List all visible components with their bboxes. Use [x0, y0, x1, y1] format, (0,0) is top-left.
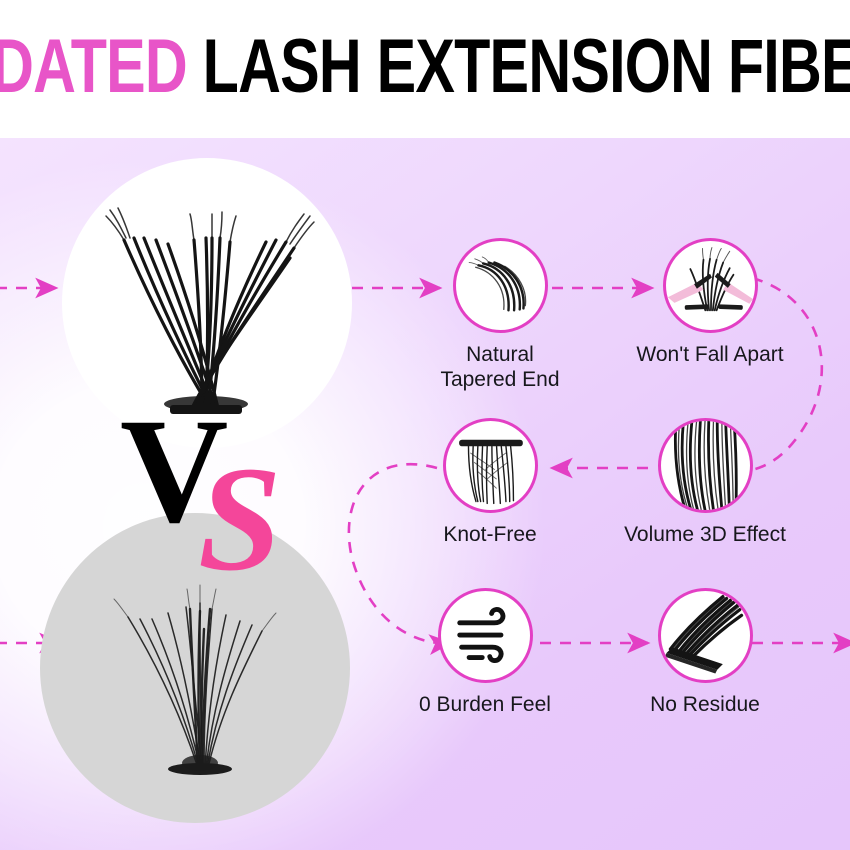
feature-badge-residue [658, 588, 753, 683]
feature-no-residue[interactable]: No Residue [605, 588, 805, 717]
old-lash-sample-circle [40, 513, 350, 823]
updated-lash-fiber-art [62, 158, 352, 448]
feature-badge-natural [453, 238, 548, 333]
feature-badge-knot [443, 418, 538, 513]
title-highlight-word: UPDATED [0, 24, 187, 109]
updated-lash-sample-circle [62, 158, 352, 448]
feature-volume-3d-effect[interactable]: Volume 3D Effect [605, 418, 805, 547]
feature-label-natural: Natural Tapered End [400, 342, 600, 392]
feature-label-volume: Volume 3D Effect [605, 522, 805, 547]
feature-label-knot: Knot-Free [390, 522, 590, 547]
tapered-lash-icon [456, 241, 545, 330]
lash-tray-icon [661, 591, 750, 680]
feature-natural-tapered-end[interactable]: Natural Tapered End [400, 238, 600, 392]
feature-wont-fall-apart[interactable]: Won't Fall Apart [610, 238, 810, 367]
infographic-panel: V S [0, 138, 850, 850]
feature-label-residue: No Residue [605, 692, 805, 717]
title-rest-words: LASH EXTENSION FIBERS [202, 24, 850, 109]
feature-badge-volume [658, 418, 753, 513]
wind-breeze-icon [441, 591, 530, 680]
feature-label-burden: 0 Burden Feel [385, 692, 585, 717]
tweezers-pull-lash-icon [666, 241, 755, 330]
feature-zero-burden-feel[interactable]: 0 Burden Feel [385, 588, 585, 717]
volume-lash-strands-icon [661, 421, 750, 510]
page-title: UPDATED LASH EXTENSION FIBERS [0, 29, 850, 105]
knot-free-lash-icon [446, 421, 535, 510]
feature-badge-burden [438, 588, 533, 683]
feature-badge-fall [663, 238, 758, 333]
feature-label-fall: Won't Fall Apart [610, 342, 810, 367]
feature-knot-free[interactable]: Knot-Free [390, 418, 590, 547]
old-lash-fiber-art [40, 513, 350, 823]
header-banner: UPDATED LASH EXTENSION FIBERS [0, 0, 850, 138]
